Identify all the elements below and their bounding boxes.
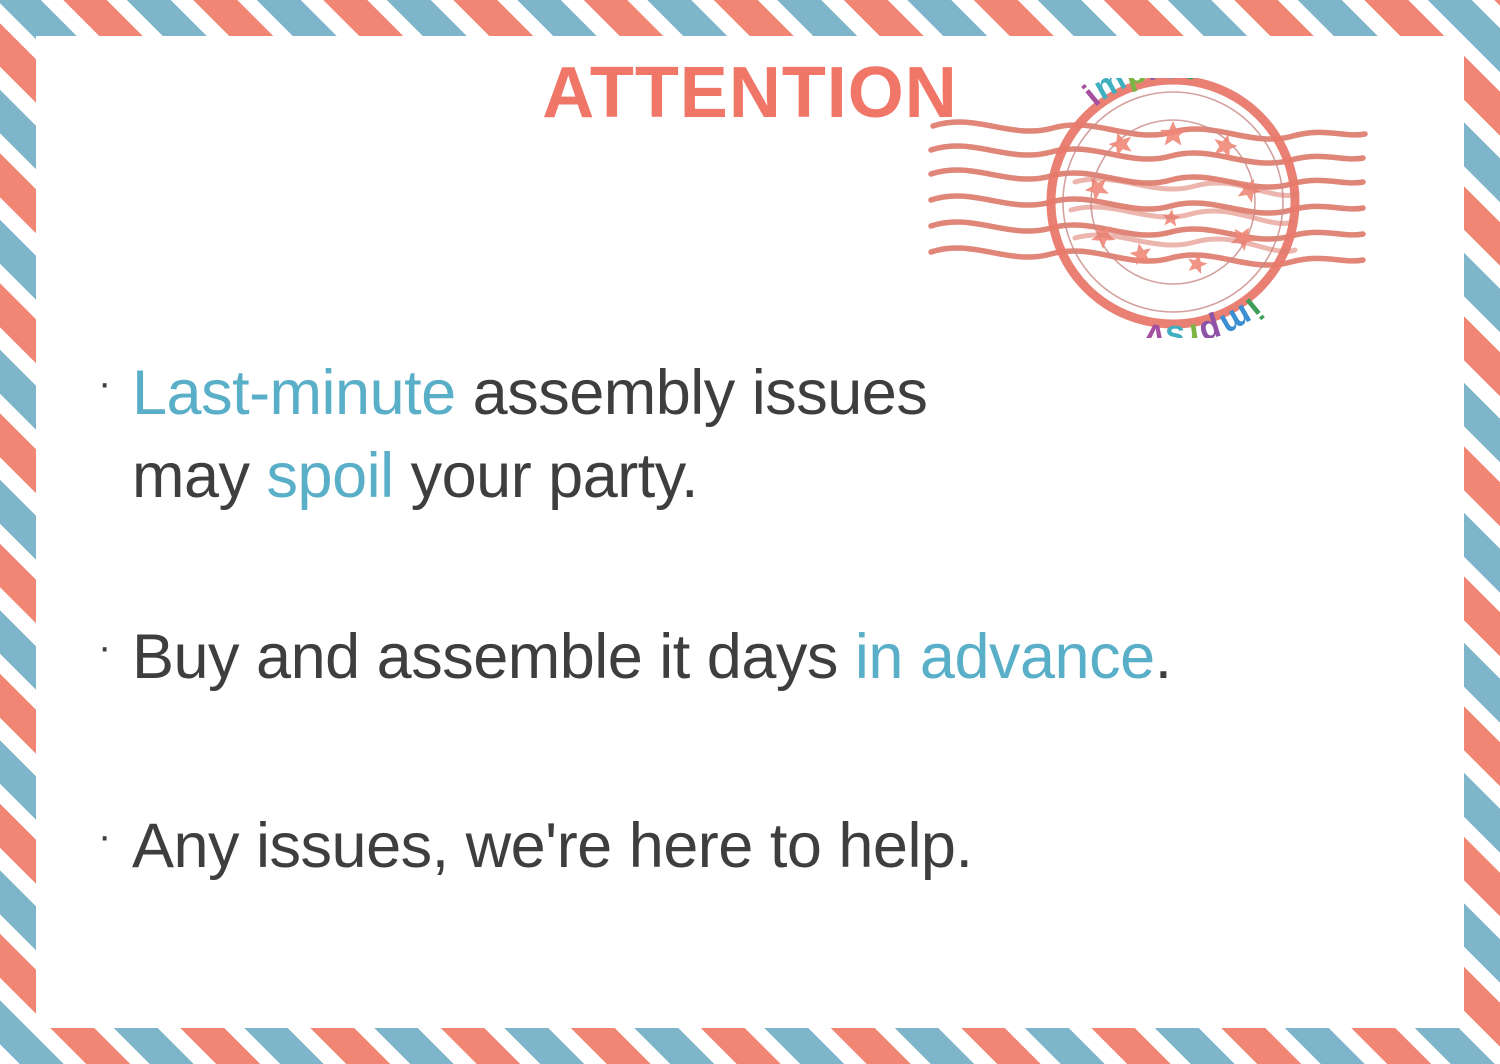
bullet-1-text-1: assembly issues [456,358,928,428]
bullet-3-text-1: Any issues, we're here to help. [132,811,972,881]
bullet-marker-icon: · [98,352,132,414]
bullet-marker-icon: · [98,805,132,867]
bullet-2-text-2: . [1155,622,1172,692]
bullet-list: · Last-minute assembly issues may spoil … [98,352,1440,889]
stamp-stars [1081,121,1265,275]
bullet-1-highlight-2: spoil [267,441,394,511]
list-item-text: Any issues, we're here to help. [132,805,1440,888]
stamp-inner-ring [1091,120,1255,284]
list-item: · Last-minute assembly issues may spoil … [98,352,1440,518]
bullet-2-highlight-1: in advance [855,622,1155,692]
svg-text:imprsv: imprsv [1143,290,1270,338]
list-item: · Buy and assemble it days in advance. [98,616,1440,699]
bullet-1-text-3: your party. [394,441,698,511]
bullet-1-highlight-1: Last-minute [132,358,456,428]
card-content: ATTENTION [0,0,1500,1064]
stamp-brand-bottom: imprsv [1143,290,1270,338]
bullet-marker-icon: · [98,616,132,678]
cancellation-waves [931,122,1365,265]
list-item-text: Last-minute assembly issues may spoil yo… [132,352,1440,518]
page-title: ATTENTION [0,52,1500,134]
list-item: · Any issues, we're here to help. [98,805,1440,888]
bullet-1-text-2: may [132,441,267,511]
list-item-text: Buy and assemble it days in advance. [132,616,1440,699]
bullet-2-text-1: Buy and assemble it days [132,622,855,692]
cancellation-waves-overlay [1071,179,1297,252]
airmail-attention-card: ATTENTION [0,0,1500,1064]
